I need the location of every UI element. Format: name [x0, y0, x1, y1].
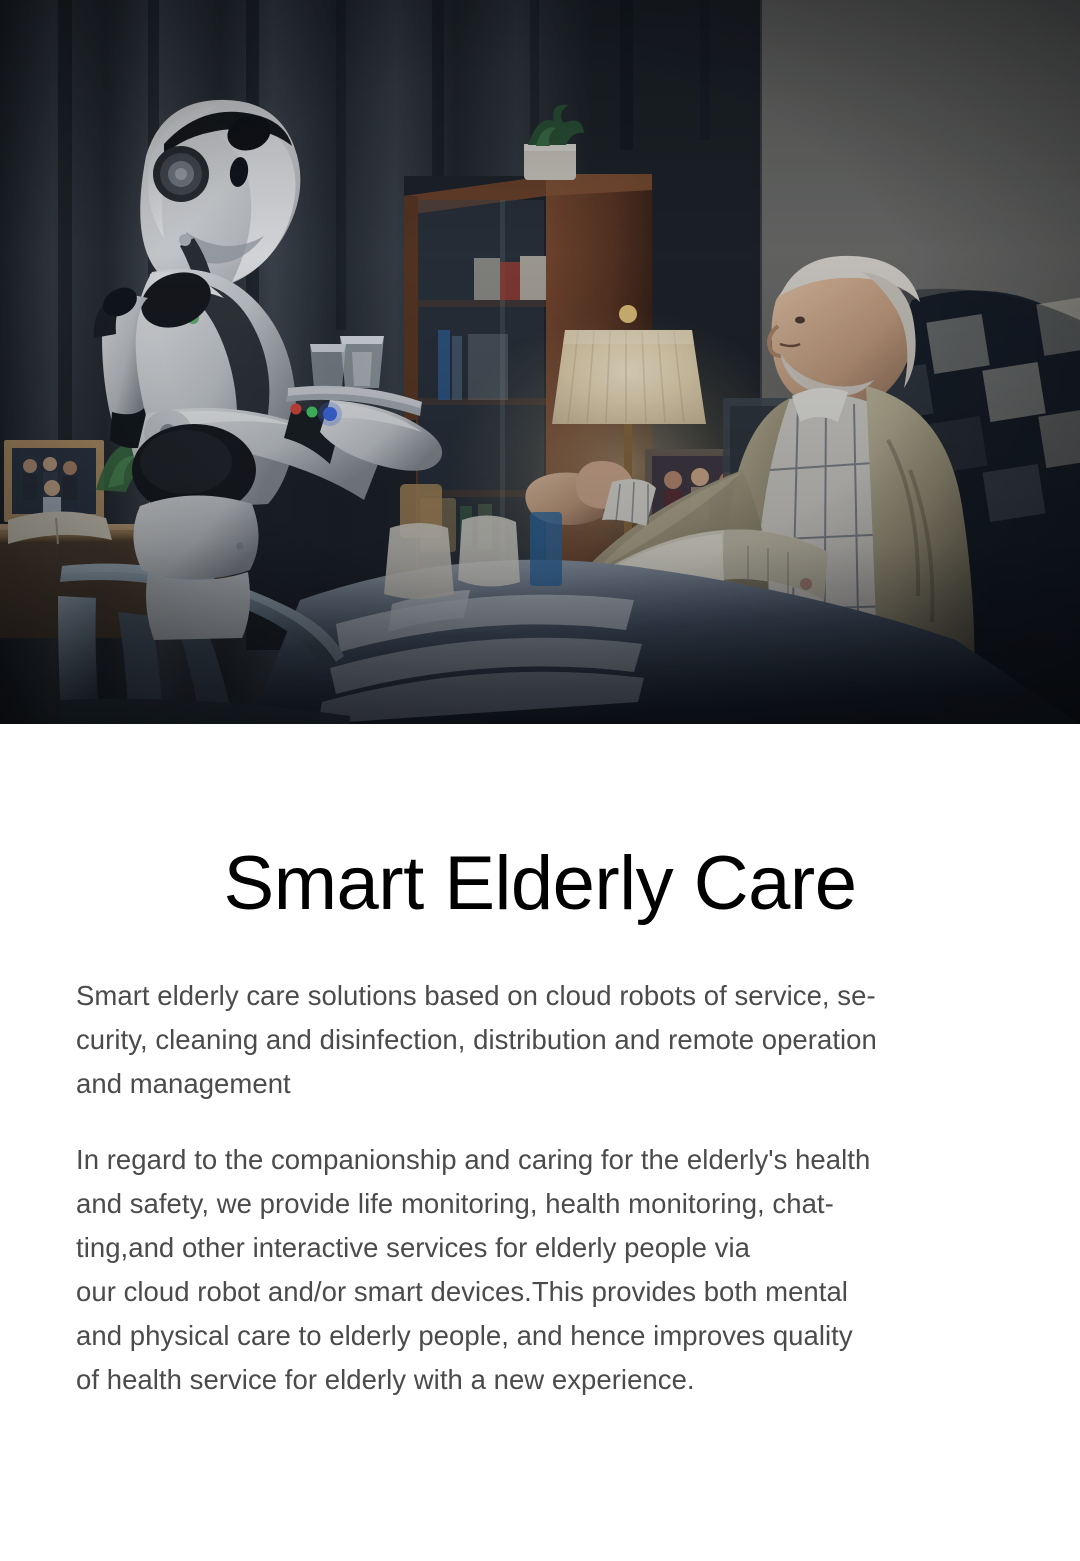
page-title: Smart Elderly Care	[0, 724, 1080, 922]
paragraph-details-line-6: of health service for elderly with a new…	[76, 1358, 1012, 1402]
paragraph-overview-line-3: and management	[76, 1062, 1012, 1106]
hero-photo	[0, 0, 1080, 724]
article-body: Smart elderly care solutions based on cl…	[0, 922, 1080, 1402]
paragraph-details-line-1: In regard to the companionship and carin…	[76, 1138, 1012, 1182]
paragraph-details-line-4: our cloud robot and/or smart devices.Thi…	[76, 1270, 1012, 1314]
paragraph-details-line-3: ting,and other interactive services for …	[76, 1226, 1012, 1270]
paragraph-overview: Smart elderly care solutions based on cl…	[76, 974, 1012, 1106]
paragraph-details-line-2: and safety, we provide life monitoring, …	[76, 1182, 1012, 1226]
paragraph-overview-line-2: curity, cleaning and disinfection, distr…	[76, 1018, 1012, 1062]
paragraph-overview-line-1: Smart elderly care solutions based on cl…	[76, 974, 1012, 1018]
bedroom-scene-illustration	[0, 0, 1080, 724]
article-content: Smart Elderly Care Smart elderly care so…	[0, 724, 1080, 1402]
cool-grade	[0, 0, 1080, 724]
paragraph-details-line-5: and physical care to elderly people, and…	[76, 1314, 1012, 1358]
paragraph-details: In regard to the companionship and carin…	[76, 1138, 1012, 1402]
